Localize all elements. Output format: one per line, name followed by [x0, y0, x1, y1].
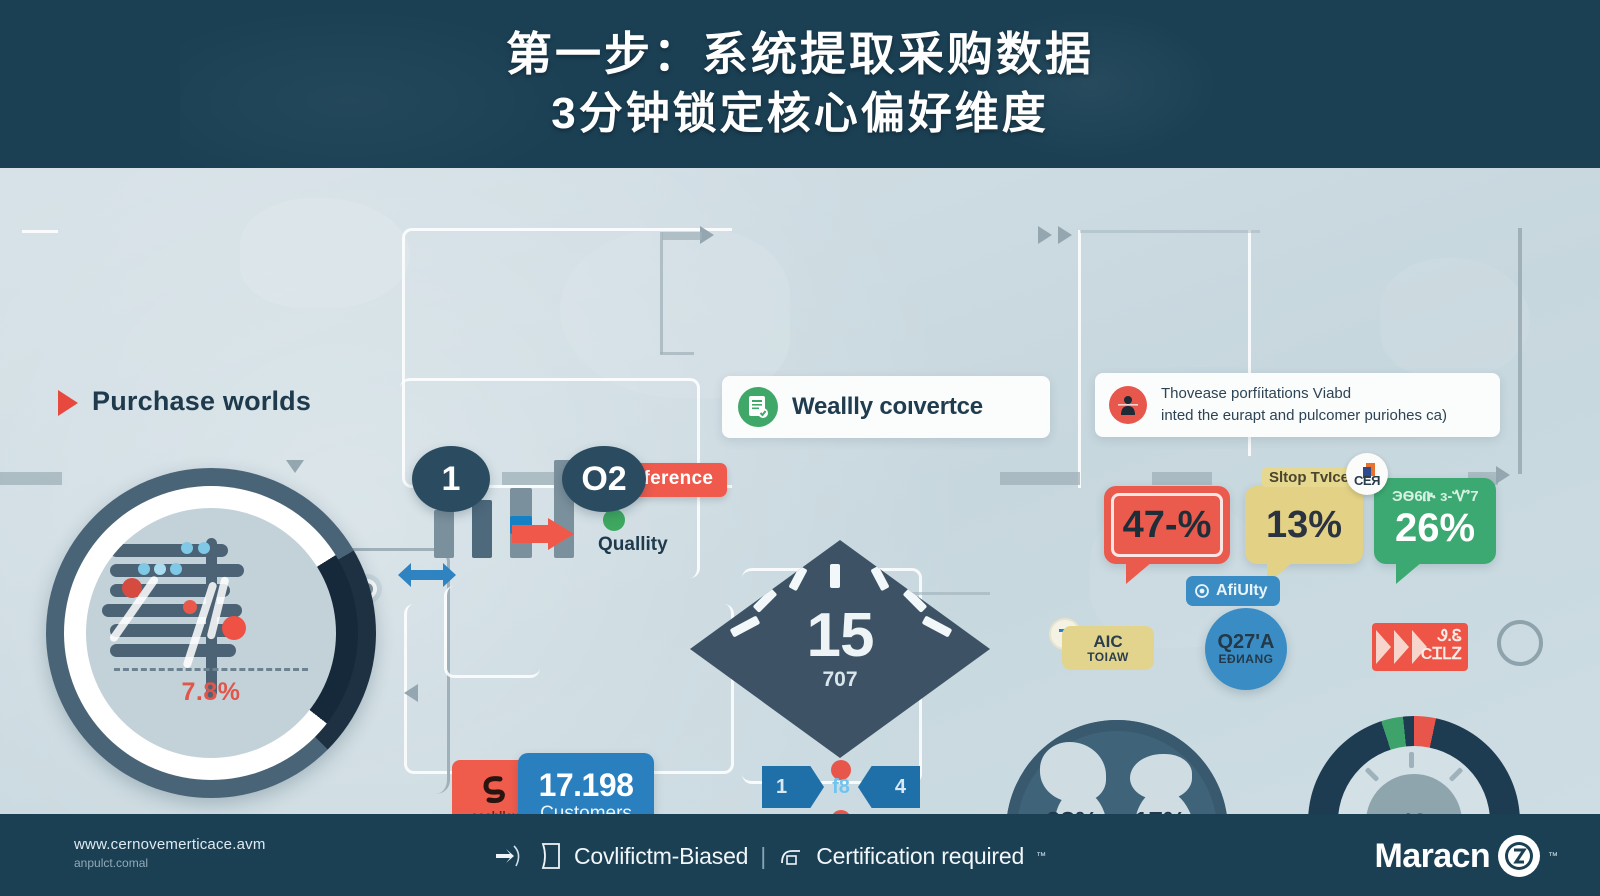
data-point	[183, 600, 197, 614]
arrow-head-icon	[700, 226, 714, 244]
quality-dot-icon	[603, 509, 625, 531]
footer-url-line2: anpulct.comal	[74, 856, 266, 870]
red-block-line2: CᏆᏞᏃ	[1421, 646, 1462, 664]
connector-line	[662, 232, 702, 240]
dial-percent-value: 7.8%	[86, 678, 336, 707]
number-grid: 1 f8 4 3 10 5 4 80 9	[762, 766, 920, 814]
arrow-head-icon	[404, 684, 418, 702]
cursor-click-icon	[492, 840, 528, 872]
stat-bubble-26-tag: ЭѲ6ᎅ ᴈ-Ꮙ7	[1392, 486, 1479, 506]
stat-bubble-value: 47-%	[1123, 504, 1212, 547]
header-title-line1: 第一步：系统提取采购数据	[506, 27, 1094, 81]
connector-line	[1078, 230, 1081, 488]
ednang-circle[interactable]: Q27'A EÐИANG	[1205, 608, 1287, 690]
page-title: Purchase worlds	[92, 386, 311, 417]
timeline-node-1[interactable]: 1	[412, 446, 490, 512]
eye-gauge-value: 15	[690, 600, 990, 671]
footer-separator: |	[760, 843, 766, 870]
brand-tm: ™	[1548, 851, 1558, 862]
map-texture	[1380, 258, 1530, 378]
arrow-head-icon	[1038, 226, 1052, 244]
chevron-icon	[1376, 630, 1391, 664]
aic-pill-line1: AIC	[1093, 633, 1122, 651]
customers-label: Customers	[540, 803, 632, 814]
certificate-seal-icon	[778, 843, 804, 869]
number-grid-row: 1 f8 4	[762, 766, 920, 808]
weallly-convertce-label: Weallly coıvertce	[792, 393, 983, 421]
chevron-right-icon	[58, 390, 78, 416]
donut-tick	[1409, 752, 1414, 768]
preference-arrow-tail	[512, 525, 552, 543]
data-point	[181, 542, 193, 554]
quality-globe-chart: 28% 17%	[1006, 720, 1228, 814]
average-time-donut-chart: 18	[1308, 716, 1520, 814]
bar	[472, 500, 492, 558]
header-title-line2: 3分钟锁定核心偏好维度	[551, 86, 1048, 141]
certificate-icon	[540, 841, 562, 871]
preference-arrow-icon	[548, 518, 574, 550]
header-banner: 第一步：系统提取采购数据 3分钟锁定核心偏好维度	[0, 0, 1600, 168]
connector-frame	[444, 586, 540, 678]
timeline-node-2-label: O2	[581, 460, 626, 499]
data-point	[222, 616, 246, 640]
ce-badge-label: CEЯ	[1354, 473, 1380, 488]
footer-bar: www.cernovemerticace.avm anpulct.comal C…	[0, 814, 1600, 896]
gauge-tick	[830, 564, 840, 588]
brand-name: Maracn	[1375, 837, 1490, 876]
eye-gauge-sub: 707	[690, 668, 990, 692]
person-icon	[1109, 386, 1147, 424]
ednang-line2: EÐИANG	[1219, 653, 1274, 666]
ability-tag[interactable]: AfiUIty	[1186, 576, 1280, 606]
data-point	[170, 563, 182, 575]
timeline-axis	[1152, 472, 1212, 485]
quality-label: Quallity	[598, 534, 668, 556]
ce-certification-badge: CEЯ	[1346, 453, 1388, 495]
footer-tm: ™	[1036, 851, 1046, 862]
brand-glyph-icon	[478, 775, 512, 805]
dial-bar	[110, 644, 236, 657]
infographic-root: 第一步：系统提取采购数据 3分钟锁定核心偏好维度	[0, 0, 1600, 896]
double-arrow-icon	[398, 560, 456, 590]
aic-pill-line2: TOIAW	[1087, 651, 1129, 664]
dial-inner-face: 7.8%	[86, 508, 336, 758]
gear-icon	[1194, 583, 1210, 599]
red-block-text: Ꮽ.Ꮛ CᏆᏞᏃ	[1421, 628, 1462, 663]
dial-threshold-line	[114, 668, 308, 671]
connector-line	[1080, 230, 1260, 233]
timeline-node-1-label: 1	[442, 460, 461, 499]
customers-counter-card: 17.198 Customers	[518, 753, 654, 814]
footer-item2-label: Certification required	[816, 843, 1024, 870]
profitations-line1: Thovease porfíitations Vіabd	[1161, 383, 1447, 405]
document-check-icon	[738, 387, 778, 427]
ability-tag-label: AfiUIty	[1216, 582, 1268, 600]
ednang-line1: Q27'A	[1217, 632, 1274, 653]
purchase-dial-gauge: 7.8%	[46, 468, 376, 798]
stat-bubble-value: 26%	[1395, 506, 1475, 551]
dial-bar	[110, 624, 238, 637]
brand-logo: Maracn ™	[1375, 835, 1558, 877]
profitations-line2: inted the eurapt and pulcomer puriohes c…	[1161, 405, 1447, 427]
bar	[434, 510, 454, 558]
stat-bubble-value: 13%	[1266, 504, 1342, 547]
data-point	[154, 563, 166, 575]
stat-bubble-13: 13%	[1245, 486, 1363, 564]
data-point	[198, 542, 210, 554]
registered-mark-icon	[1498, 835, 1540, 877]
globe-right-percent: 17%	[1134, 806, 1186, 814]
chevron-icon	[1394, 630, 1409, 664]
arrow-head-icon	[1058, 226, 1072, 244]
stat-bubble-13-tag: Sltop TvIce	[1262, 468, 1356, 487]
profitations-text: Thovease porfíitations Vіabd inted the e…	[1161, 383, 1447, 427]
red-block-line1: Ꮽ.Ꮛ	[1421, 628, 1462, 646]
footer-item1-label: Covlifictm-Biased	[574, 843, 748, 870]
footer-url[interactable]: www.cernovemerticace.avm anpulct.comal	[74, 836, 266, 870]
loop-back-icon	[1497, 620, 1543, 666]
timeline-node-2[interactable]: O2	[562, 446, 646, 512]
eye-lens-gauge: 15 707	[690, 540, 990, 758]
main-canvas: Purchase worlds	[0, 168, 1600, 814]
connector-line	[660, 352, 694, 355]
globe-left-percent: 28%	[1046, 806, 1098, 814]
red-chevron-block: Ꮽ.Ꮛ CᏆᏞᏃ	[1372, 623, 1468, 671]
connector-line	[1518, 228, 1522, 474]
footer-center-items: Covlifictm-Biased | Certification requir…	[492, 840, 1046, 872]
profitations-card[interactable]: Thovease porfíitations Vіabd inted the e…	[1095, 373, 1500, 437]
footer-url-line1: www.cernovemerticace.avm	[74, 836, 266, 853]
weallly-convertce-card[interactable]: Weallly coıvertce	[722, 376, 1050, 438]
customers-number: 17.198	[539, 769, 634, 801]
timeline-axis	[1000, 472, 1080, 485]
stat-bubble-47: 47-%	[1104, 486, 1230, 564]
map-texture	[240, 198, 410, 308]
connector-line	[22, 230, 58, 233]
data-point	[138, 563, 150, 575]
arrow-head-icon	[1496, 466, 1510, 484]
aic-pill[interactable]: AIC TOIAW	[1062, 626, 1154, 670]
connector-line	[660, 232, 663, 354]
